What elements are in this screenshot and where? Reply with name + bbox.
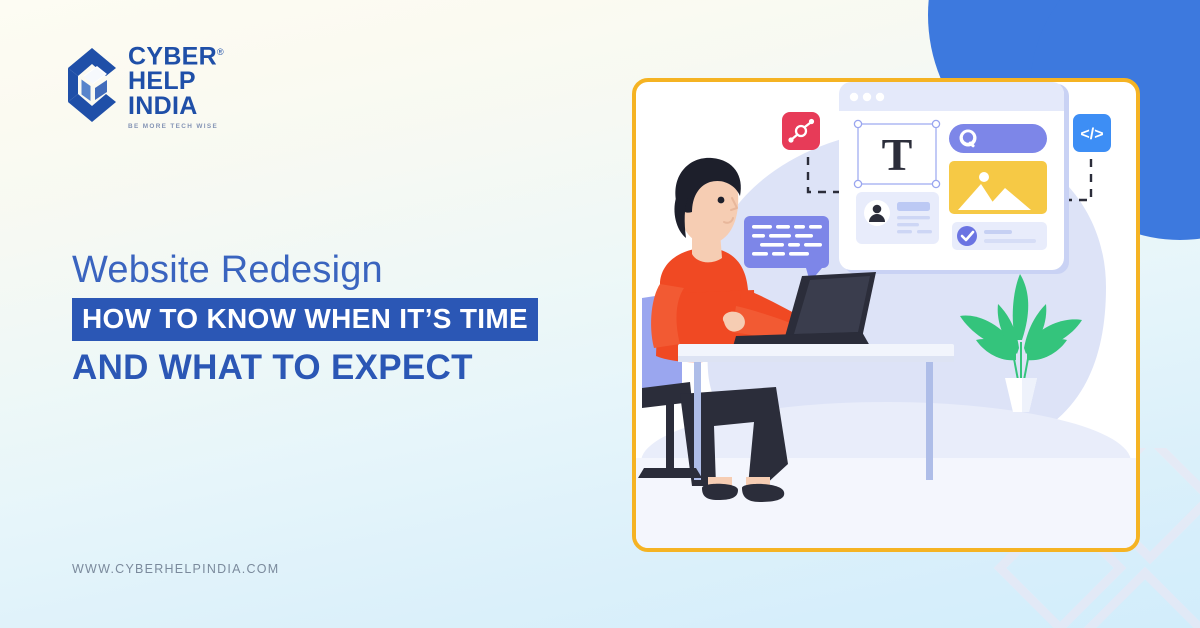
browser-dot-3 — [876, 93, 884, 101]
browser-window-mockup: T — [839, 82, 1069, 274]
chat-line-1b — [776, 225, 790, 229]
text-tool-selection[interactable]: T — [854, 120, 939, 187]
chat-line-4a — [752, 252, 768, 256]
chat-line-2c — [795, 234, 813, 238]
text-tool-glyph: T — [882, 129, 913, 180]
chair-foot — [638, 468, 702, 478]
brand-name-line-3: INDIA — [128, 94, 224, 119]
browser-dot-1 — [850, 93, 858, 101]
brand-logo[interactable]: CYBER® HELP INDIA BE MORE TECH WISE — [66, 40, 224, 130]
brand-name-line-2: HELP — [128, 69, 224, 94]
chat-line-3c — [804, 243, 822, 247]
image-icon-sun — [979, 172, 989, 182]
cyber-help-india-logo-mark-icon — [66, 46, 118, 124]
profile-line-1 — [897, 202, 930, 211]
brand-name-cyber: CYBER — [128, 42, 217, 70]
brand-logo-text: CYBER® HELP INDIA BE MORE TECH WISE — [128, 40, 224, 130]
chair-post — [666, 400, 674, 472]
headline-primary-title: Website Redesign — [72, 248, 592, 292]
selection-handle-bl[interactable] — [854, 180, 861, 187]
person-shoe-left — [702, 484, 738, 500]
mockup-check-card[interactable] — [952, 222, 1047, 250]
desk-leg-right — [926, 362, 933, 480]
code-badge[interactable]: </> — [1073, 114, 1111, 152]
brand-tagline: BE MORE TECH WISE — [128, 123, 224, 130]
browser-titlebar — [839, 82, 1064, 111]
desk-top-edge — [678, 356, 954, 362]
chat-line-1a — [752, 225, 772, 229]
check-line-2 — [984, 239, 1036, 243]
search-icon-lens-inner — [963, 132, 973, 142]
profile-line-4 — [897, 230, 912, 233]
chat-line-1d — [809, 225, 822, 229]
check-line-1 — [984, 230, 1012, 234]
mockup-image-card[interactable] — [949, 161, 1047, 214]
chat-line-1c — [794, 225, 805, 229]
chat-line-2b — [769, 234, 791, 238]
brand-name-line-1: CYBER® — [128, 40, 224, 69]
profile-line-2 — [897, 216, 930, 219]
chat-line-4b — [772, 252, 785, 256]
illustration-card: T — [632, 78, 1140, 552]
selection-handle-tl[interactable] — [854, 120, 861, 127]
avatar-head-icon — [873, 205, 882, 214]
profile-line-3 — [897, 223, 919, 226]
chat-line-3b — [788, 243, 800, 247]
headline-highlight-subtitle: HOW TO KNOW WHEN IT’S TIME — [72, 298, 538, 341]
headline-block: Website Redesign HOW TO KNOW WHEN IT’S T… — [72, 248, 592, 388]
chat-line-3a — [760, 243, 784, 247]
node-link-badge[interactable] — [782, 112, 820, 150]
check-circle-icon — [957, 226, 977, 246]
mockup-profile-card[interactable] — [856, 192, 939, 244]
chat-bubble-body — [744, 216, 829, 268]
selection-handle-tr[interactable] — [932, 120, 939, 127]
code-badge-glyph: </> — [1080, 126, 1103, 143]
chat-line-4c — [789, 252, 809, 256]
desk-leg-left — [694, 362, 701, 480]
node-link-badge-bg — [782, 112, 820, 150]
person-eye — [718, 197, 725, 204]
website-url[interactable]: WWW.CYBERHELPINDIA.COM — [72, 562, 279, 576]
workspace-illustration: T — [636, 82, 1136, 548]
banner-canvas: CYBER® HELP INDIA BE MORE TECH WISE Webs… — [0, 0, 1200, 628]
headline-secondary-subtitle: AND WHAT TO EXPECT — [72, 347, 592, 388]
chat-line-2a — [752, 234, 765, 238]
profile-line-5 — [917, 230, 932, 233]
registered-trademark-icon: ® — [217, 47, 224, 57]
mockup-search-bar[interactable] — [949, 124, 1047, 153]
browser-dot-2 — [863, 93, 871, 101]
selection-handle-br[interactable] — [932, 180, 939, 187]
